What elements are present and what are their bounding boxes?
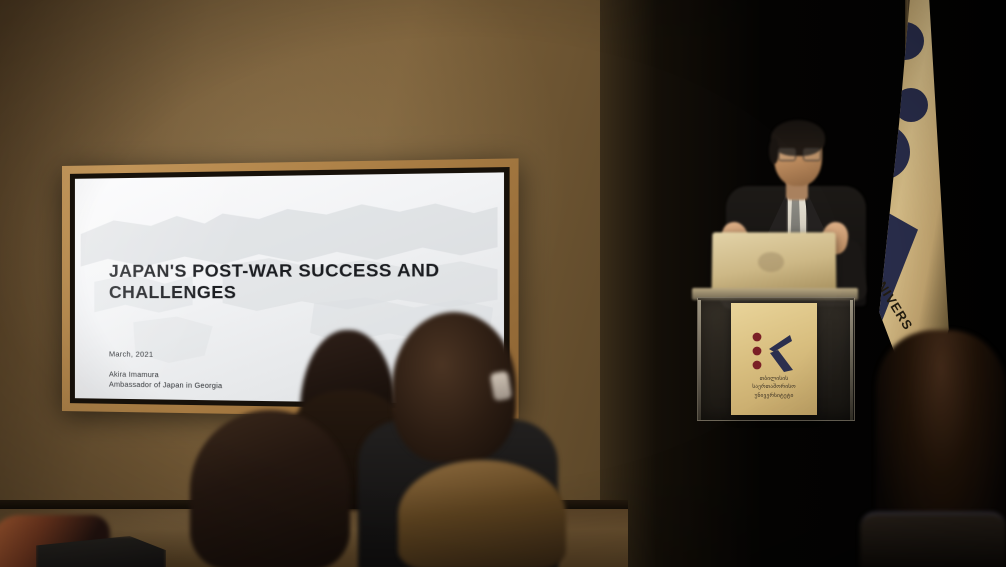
slide-author-title: Ambassador of Japan in Georgia <box>109 380 222 392</box>
university-k-logo-icon <box>748 330 798 374</box>
podium-name-line-1: თბილისის <box>731 375 817 383</box>
podium-leg-left <box>698 300 701 420</box>
audience-head-light-brown-hair <box>398 460 566 567</box>
audience-head-dark-bob <box>190 410 350 567</box>
podium-name-line-3: უნივერსიტეტი <box>731 392 817 400</box>
slide-author-block: Akira Imamura Ambassador of Japan in Geo… <box>109 370 222 392</box>
glasses-icon <box>778 148 819 159</box>
podium-university-name: თბილისის საერთაშორისო უნივერსიტეტი <box>731 375 817 400</box>
slide-title: JAPAN'S POST-WAR SUCCESS AND CHALLENGES <box>109 260 456 305</box>
slide-date: March, 2021 <box>109 349 153 358</box>
lecture-hall-photo: JAPAN'S POST-WAR SUCCESS AND CHALLENGES … <box>0 0 1006 567</box>
podium-leg-right <box>850 300 853 420</box>
podium-name-line-2: საერთაშორისო <box>731 383 817 391</box>
chair-back <box>860 512 1006 567</box>
laptop[interactable] <box>712 232 837 292</box>
